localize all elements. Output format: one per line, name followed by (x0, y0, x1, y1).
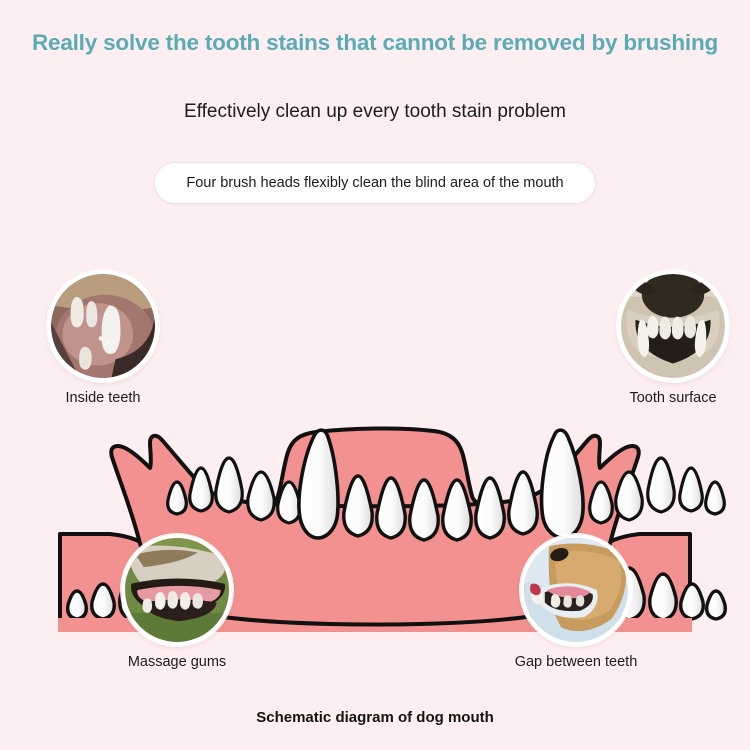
gap-between-teeth-circle[interactable] (520, 534, 632, 646)
lower-right-canine (542, 430, 583, 538)
product-infographic-page: Really solve the tooth stains that canno… (0, 0, 750, 750)
callout-massage-gums[interactable]: Massage gums (116, 534, 238, 670)
callout-tooth-surface-label: Tooth surface (612, 390, 734, 406)
dog-tooth-surface-photo (621, 274, 725, 378)
massage-gums-circle[interactable] (121, 534, 233, 646)
callout-massage-gums-label: Massage gums (116, 654, 238, 670)
callout-gap-between-teeth[interactable]: Gap between teeth (506, 534, 646, 670)
page-headline: Really solve the tooth stains that canno… (0, 30, 750, 56)
dog-gap-between-teeth-photo (524, 538, 628, 642)
feature-pill-label: Four brush heads flexibly clean the blin… (186, 175, 563, 191)
page-subhead: Effectively clean up every tooth stain p… (0, 101, 750, 123)
tooth-surface-circle[interactable] (617, 270, 729, 382)
callout-inside-teeth[interactable]: Inside teeth (42, 270, 164, 406)
callout-inside-teeth-label: Inside teeth (42, 390, 164, 406)
diagram-caption: Schematic diagram of dog mouth (0, 709, 750, 726)
callout-gap-between-teeth-label: Gap between teeth (506, 654, 646, 670)
dog-massage-gums-photo (125, 538, 229, 642)
dog-inside-teeth-photo (51, 274, 155, 378)
feature-pill: Four brush heads flexibly clean the blin… (154, 162, 596, 204)
callout-tooth-surface[interactable]: Tooth surface (612, 270, 734, 406)
inside-teeth-circle[interactable] (47, 270, 159, 382)
